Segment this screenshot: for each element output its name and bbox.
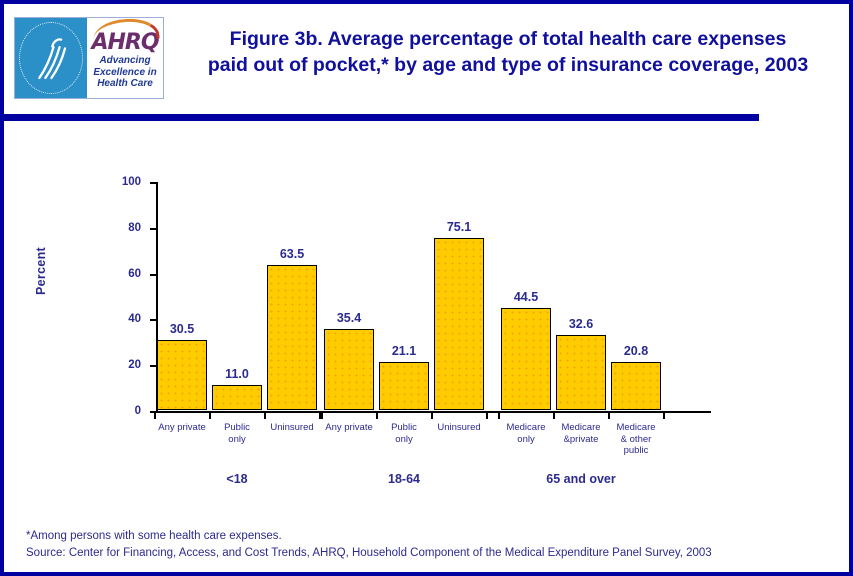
category-label: Public only — [373, 422, 435, 445]
y-tick-label: 20 — [128, 359, 141, 371]
bar-value-label: 44.5 — [514, 290, 538, 304]
y-tick-label: 80 — [128, 222, 141, 234]
bar-value-label: 63.5 — [280, 247, 304, 261]
footnote-text: *Among persons with some health care exp… — [26, 528, 836, 545]
bar-chart: Percent 020406080100 30.511.063.535.421.… — [4, 124, 849, 504]
y-tick-label: 60 — [128, 268, 141, 280]
bar — [556, 335, 606, 410]
bar-value-label: 21.1 — [392, 344, 416, 358]
x-tick — [498, 413, 500, 419]
ahrq-tagline: Advancing Excellence in Health Care — [87, 55, 163, 90]
figure-header: AHRQ Advancing Excellence in Health Care… — [4, 4, 849, 110]
hhs-seal-icon — [15, 18, 87, 98]
bar — [157, 340, 207, 410]
category-label: Any private — [318, 422, 380, 434]
ahrq-tagline-line1: Advancing — [87, 55, 163, 67]
x-tick — [486, 413, 488, 419]
y-tick-label: 100 — [122, 176, 141, 188]
category-label: Uninsured — [428, 422, 490, 434]
ahrq-logo: AHRQ Advancing Excellence in Health Care — [14, 17, 164, 99]
group-label: <18 — [226, 472, 247, 486]
bar-value-label: 30.5 — [170, 322, 194, 336]
bar — [267, 265, 317, 410]
bar-value-label: 11.0 — [225, 367, 249, 381]
ahrq-tagline-line3: Health Care — [87, 78, 163, 90]
y-tick: 40 — [150, 319, 156, 321]
y-tick: 60 — [150, 274, 156, 276]
x-axis-line — [156, 411, 711, 413]
category-label: Uninsured — [261, 422, 323, 434]
figure-title-line2: paid out of pocket,* by age and type of … — [172, 52, 844, 78]
group-label: 18-64 — [388, 472, 420, 486]
category-label: Medicare & other public — [605, 422, 667, 457]
figure-notes: *Among persons with some health care exp… — [26, 528, 836, 562]
bar — [212, 385, 262, 410]
ahrq-tagline-line2: Excellence in — [87, 67, 163, 79]
bar-value-label: 75.1 — [447, 220, 471, 234]
figure-page: AHRQ Advancing Excellence in Health Care… — [0, 0, 853, 576]
x-tick — [321, 413, 323, 419]
group-label: 65 and over — [546, 472, 615, 486]
x-tick — [431, 413, 433, 419]
x-tick — [608, 413, 610, 419]
category-label: Medicare only — [495, 422, 557, 445]
y-tick: 100 — [150, 182, 156, 184]
figure-title: Figure 3b. Average percentage of total h… — [172, 26, 844, 78]
y-tick-label: 40 — [128, 313, 141, 325]
bar — [379, 362, 429, 410]
figure-title-line1: Figure 3b. Average percentage of total h… — [172, 26, 844, 52]
bar-value-label: 35.4 — [337, 311, 361, 325]
bar — [501, 308, 551, 410]
x-tick — [663, 413, 665, 419]
ahrq-arc-icon — [92, 17, 159, 44]
y-tick: 20 — [150, 365, 156, 367]
x-tick — [376, 413, 378, 419]
x-tick — [264, 413, 266, 419]
x-tick — [553, 413, 555, 419]
plot-area: 020406080100 30.511.063.535.421.175.144.… — [156, 182, 711, 412]
y-tick-label: 0 — [135, 405, 141, 417]
bar — [434, 238, 484, 410]
y-tick: 80 — [150, 228, 156, 230]
bar — [611, 362, 661, 410]
x-tick — [209, 413, 211, 419]
bar-value-label: 32.6 — [569, 317, 593, 331]
source-text: Source: Center for Financing, Access, an… — [26, 545, 836, 562]
category-label: Medicare &private — [550, 422, 612, 445]
ahrq-wordmark: AHRQ Advancing Excellence in Health Care — [87, 18, 163, 98]
bar-value-label: 20.8 — [624, 344, 648, 358]
y-axis-label: Percent — [34, 216, 48, 326]
header-rule — [4, 114, 759, 121]
x-tick — [154, 413, 156, 419]
category-label: Public only — [206, 422, 268, 445]
bar — [324, 329, 374, 410]
category-label: Any private — [151, 422, 213, 434]
